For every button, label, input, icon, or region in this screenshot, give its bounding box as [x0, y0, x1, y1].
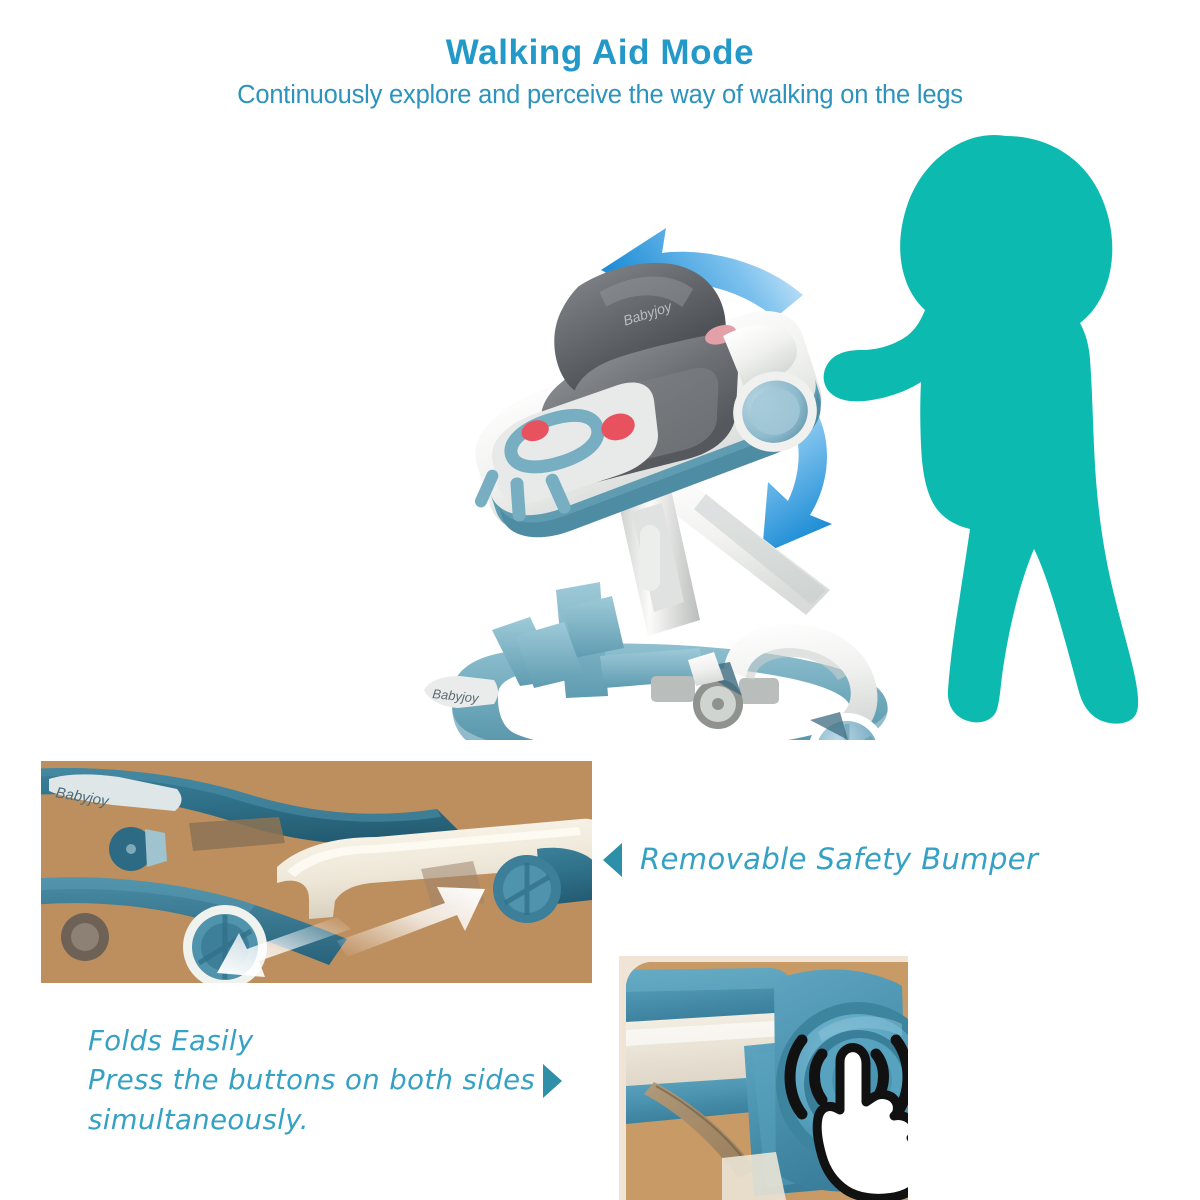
callout-removable-bumper: Removable Safety Bumper — [603, 843, 1038, 877]
photo-fold-button — [619, 956, 908, 1200]
toddler-walking-silhouette — [824, 135, 1139, 724]
base-brand-badge: Babyjoy — [424, 676, 498, 708]
infographic-page: Walking Aid Mode Continuously explore an… — [0, 0, 1200, 1200]
triangle-right-icon — [543, 1064, 562, 1098]
hero-product-scene: Babyjoy — [0, 120, 1200, 740]
header: Walking Aid Mode Continuously explore an… — [0, 34, 1200, 109]
fold-label-line-2: Press the buttons on both sides — [88, 1061, 535, 1100]
triangle-left-icon — [603, 843, 622, 877]
page-subtitle: Continuously explore and perceive the wa… — [0, 81, 1200, 110]
bumper-label: Removable Safety Bumper — [640, 844, 1038, 876]
fold-label-line-3: simultaneously. — [88, 1101, 535, 1140]
fold-label-line-1: Folds Easily — [88, 1022, 535, 1061]
photo-removable-bumper: Babyjoy — [41, 761, 592, 983]
callout-folds-easily: Folds Easily Press the buttons on both s… — [88, 1022, 562, 1140]
page-title: Walking Aid Mode — [0, 34, 1200, 72]
